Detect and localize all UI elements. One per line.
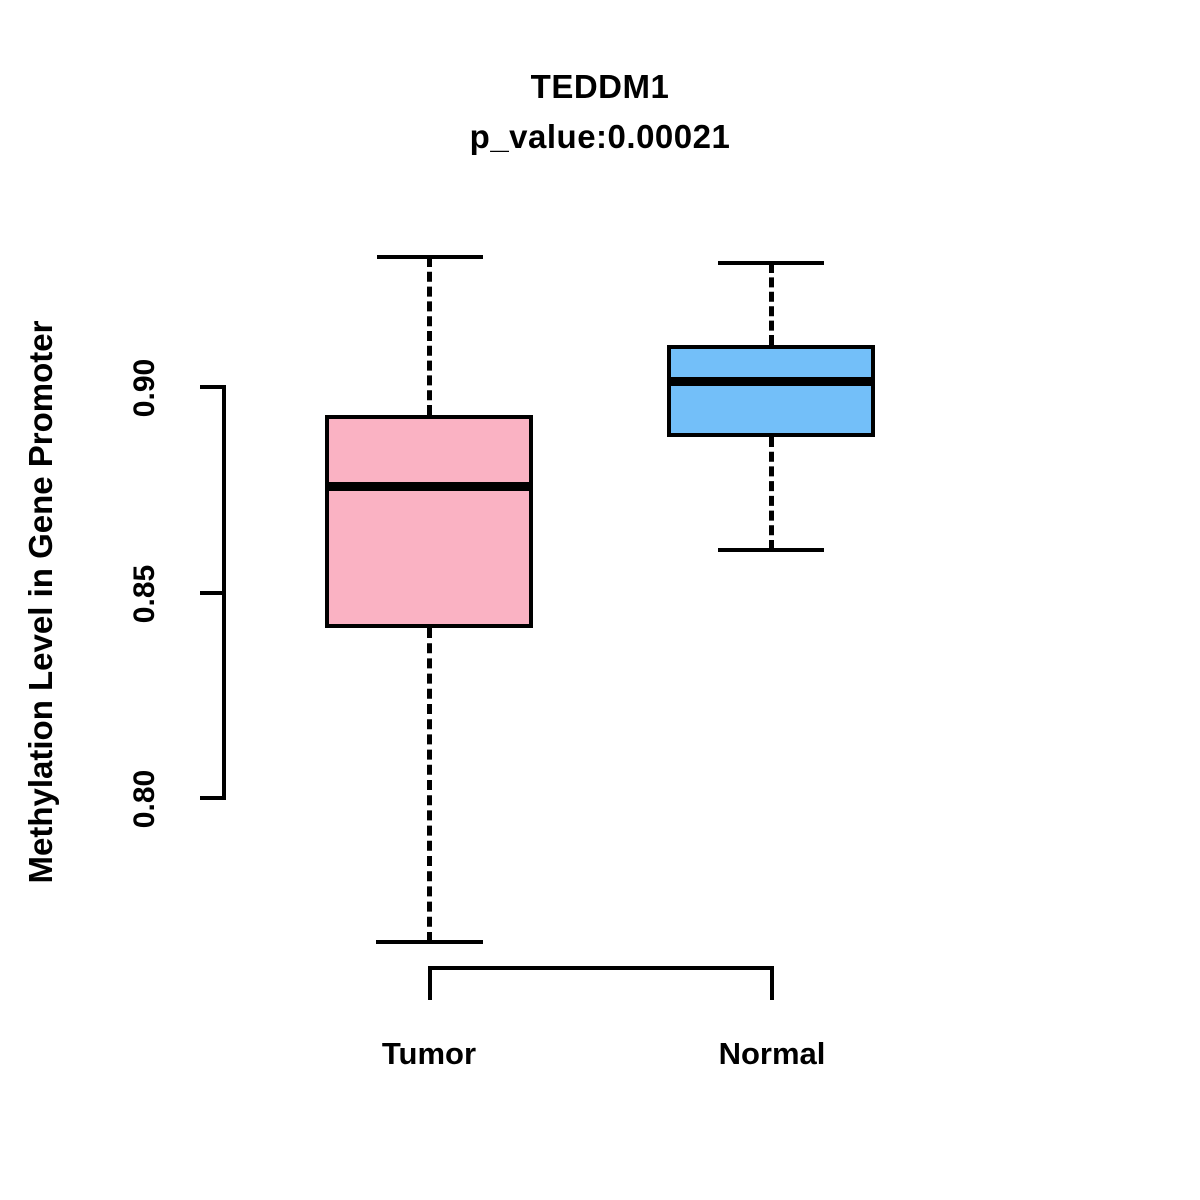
chart-title: TEDDM1 (0, 68, 1200, 106)
y-axis-label: Methylation Level in Gene Promoter (22, 262, 60, 942)
y-axis-tick-label-0: 0.90 (128, 348, 162, 428)
x-axis-tick-label-tumor: Tumor (299, 1036, 559, 1072)
y-axis-tick-1 (200, 591, 226, 595)
normal-upper-whisker-cap (718, 261, 824, 265)
y-axis-tick-label-2: 0.80 (128, 759, 162, 839)
normal-upper-whisker (769, 263, 774, 345)
normal-lower-whisker-cap (718, 548, 824, 552)
tumor-lower-whisker-cap (376, 940, 483, 944)
x-axis-tick-tumor (428, 966, 432, 1000)
tumor-median-line (325, 482, 533, 491)
tumor-box (325, 415, 533, 628)
y-axis-tick-label-1: 0.85 (128, 554, 162, 634)
boxplot-figure: TEDDM1 p_value:0.00021 Methylation Level… (0, 0, 1200, 1200)
x-axis-tick-normal (770, 966, 774, 1000)
x-axis-line (428, 966, 774, 970)
normal-median-line (667, 377, 875, 386)
normal-box (667, 345, 875, 437)
tumor-upper-whisker (427, 257, 432, 415)
x-axis-tick-label-normal: Normal (642, 1036, 902, 1072)
y-axis-tick-2 (200, 796, 226, 800)
tumor-upper-whisker-cap (377, 255, 483, 259)
normal-lower-whisker (769, 437, 774, 550)
chart-subtitle-pvalue: p_value:0.00021 (0, 118, 1200, 156)
tumor-lower-whisker (427, 628, 432, 942)
y-axis-tick-0 (200, 385, 226, 389)
